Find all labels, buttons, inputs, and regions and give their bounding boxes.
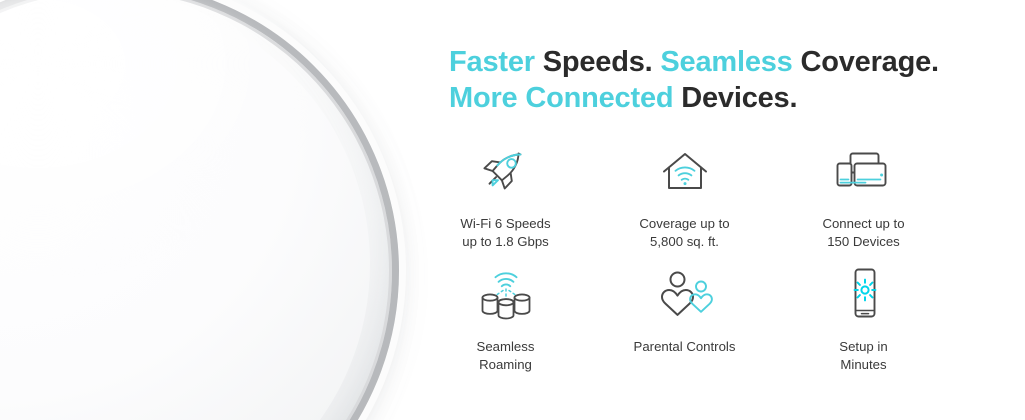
headline-word-coverage: Coverage. [793, 46, 939, 78]
headline-word-more-connected: More Connected [449, 82, 673, 114]
headline: Faster Speeds. Seamless Coverage. More C… [449, 44, 1009, 116]
headline-word-devices: Devices. [673, 82, 797, 114]
feature-label: Parental Controls [634, 338, 736, 356]
headline-line-2: More Connected Devices. [449, 80, 1009, 116]
feature-grid: Wi-Fi 6 Speeds up to 1.8 Gbps [416, 143, 1006, 374]
feature-label: Setup in Minutes [839, 338, 887, 374]
headline-word-faster: Faster [449, 46, 535, 78]
house-wifi-icon [658, 143, 712, 201]
product-image [0, 0, 430, 420]
feature-row: Wi-Fi 6 Speeds up to 1.8 Gbps [416, 143, 1006, 251]
rocket-icon [479, 143, 533, 201]
feature-row: Seamless Roaming Parental [416, 264, 1006, 374]
feature-label: Seamless Roaming [477, 338, 535, 374]
feature-item-roaming: Seamless Roaming [416, 264, 595, 374]
feature-item-speeds: Wi-Fi 6 Speeds up to 1.8 Gbps [416, 143, 595, 251]
headline-word-speeds: Speeds. [535, 46, 661, 78]
promo-banner: Faster Speeds. Seamless Coverage. More C… [0, 0, 1025, 420]
feature-label: Coverage up to 5,800 sq. ft. [639, 215, 729, 251]
feature-item-coverage: Coverage up to 5,800 sq. ft. [595, 143, 774, 251]
feature-item-devices: Connect up to 150 Devices [774, 143, 953, 251]
feature-label: Wi-Fi 6 Speeds up to 1.8 Gbps [460, 215, 550, 251]
headline-word-seamless: Seamless [660, 46, 792, 78]
feature-item-setup: Setup in Minutes [774, 264, 953, 374]
feature-item-parental-controls: Parental Controls [595, 264, 774, 374]
headline-line-1: Faster Speeds. Seamless Coverage. [449, 44, 1009, 80]
mesh-units-wifi-icon [472, 264, 540, 322]
parent-child-heart-icon [654, 264, 716, 322]
feature-label: Connect up to 150 Devices [822, 215, 904, 251]
multi-devices-icon [833, 143, 895, 201]
phone-gear-icon [845, 264, 883, 322]
